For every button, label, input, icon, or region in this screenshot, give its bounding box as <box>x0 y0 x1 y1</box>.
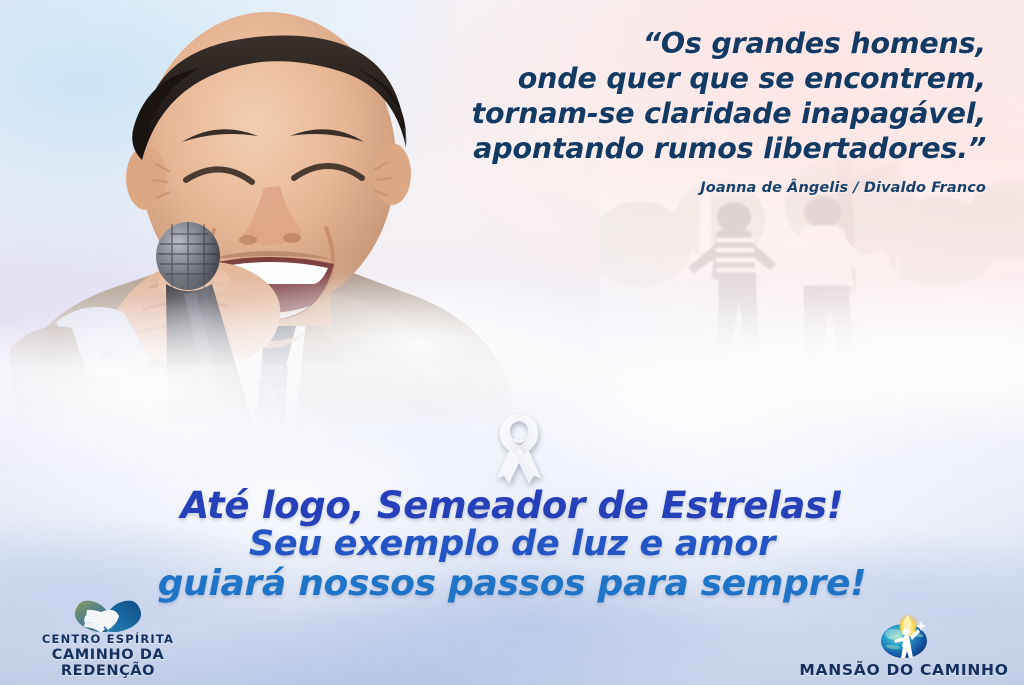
logo-left-line2: CAMINHO DA REDENÇÃO <box>8 647 208 679</box>
farewell-line-2: Seu exemplo de luz e amor <box>0 525 1024 564</box>
quote-line-4: apontando rumos libertadores.” <box>286 131 986 166</box>
memorial-poster: “Os grandes homens, onde quer que se enc… <box>0 0 1024 685</box>
hands-heart-icon <box>71 598 145 632</box>
logo-mansao-text: MANSÃO DO CAMINHO <box>799 660 1008 679</box>
logo-centro-espirita-text: CENTRO ESPÍRITA CAMINHO DA REDENÇÃO <box>8 632 208 679</box>
quote-attribution: Joanna de Ângelis / Divaldo Franco <box>286 180 986 196</box>
globe-figure-icon <box>873 612 935 660</box>
quote-line-3: tornam-se claridade inapagável, <box>286 96 986 131</box>
quote-block: “Os grandes homens, onde quer que se enc… <box>286 26 986 196</box>
farewell-line-1: Até logo, Semeador de Estrelas! <box>0 486 1024 525</box>
quote-line-2: onde quer que se encontrem, <box>286 61 986 96</box>
logo-left-line1: CENTRO ESPÍRITA <box>8 632 208 646</box>
logo-centro-espirita[interactable]: CENTRO ESPÍRITA CAMINHO DA REDENÇÃO <box>8 598 208 679</box>
farewell-message: Até logo, Semeador de Estrelas! Seu exem… <box>0 486 1024 603</box>
white-ribbon-icon <box>488 408 550 486</box>
logo-right-line2: MANSÃO DO CAMINHO <box>799 661 1008 679</box>
quote-line-1: “Os grandes homens, <box>286 26 986 61</box>
logo-mansao-do-caminho[interactable]: MANSÃO DO CAMINHO <box>794 612 1014 679</box>
